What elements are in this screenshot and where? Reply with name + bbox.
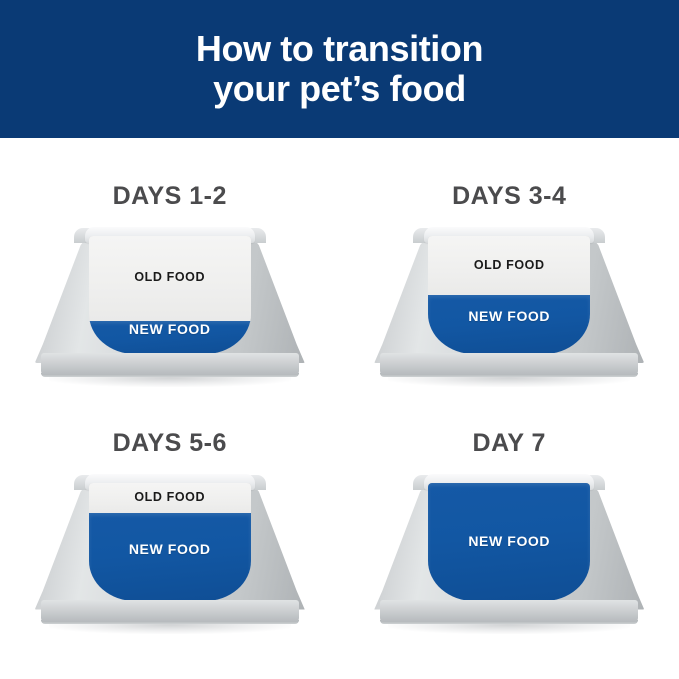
bowl-base <box>380 600 638 622</box>
bowl-basin: OLD FOOD NEW FOOD <box>89 236 251 354</box>
bowl-basin: OLD FOOD NEW FOOD <box>428 236 590 354</box>
food-bowl-days-3-4: OLD FOOD NEW FOOD <box>374 227 644 387</box>
old-food-label: OLD FOOD <box>89 270 251 284</box>
old-food-layer: OLD FOOD <box>89 483 251 514</box>
bowl-base <box>41 353 299 375</box>
step-card-days-3-4: DAYS 3-4 OLD FOOD NEW FOOD <box>340 138 679 409</box>
new-food-label: NEW FOOD <box>89 321 251 337</box>
bowl-basin: OLD FOOD NEW FOOD <box>89 483 251 601</box>
new-food-layer: NEW FOOD <box>89 321 251 354</box>
step-card-days-1-2: DAYS 1-2 OLD FOOD NEW FOOD <box>0 138 340 409</box>
infographic-page: How to transition your pet’s food DAYS 1… <box>0 0 679 679</box>
food-bowl-days-1-2: OLD FOOD NEW FOOD <box>35 227 305 387</box>
old-food-label: OLD FOOD <box>428 258 590 272</box>
page-title: How to transition your pet’s food <box>196 29 483 110</box>
new-food-layer: NEW FOOD <box>89 513 251 600</box>
step-label-day-7: DAY 7 <box>473 429 546 458</box>
food-bowl-days-5-6: OLD FOOD NEW FOOD <box>35 474 305 634</box>
new-food-label: NEW FOOD <box>89 541 251 557</box>
food-bowl-day-7: NEW FOOD <box>374 474 644 634</box>
old-food-layer: OLD FOOD <box>428 236 590 295</box>
new-food-layer: NEW FOOD <box>428 295 590 354</box>
step-label-days-3-4: DAYS 3-4 <box>452 182 566 211</box>
header-banner: How to transition your pet’s food <box>0 0 679 138</box>
new-food-label: NEW FOOD <box>428 533 590 549</box>
bowl-basin: NEW FOOD <box>428 483 590 601</box>
bowl-base <box>380 353 638 375</box>
step-card-day-7: DAY 7 NEW FOOD <box>340 409 679 679</box>
new-food-label: NEW FOOD <box>428 308 590 324</box>
step-label-days-5-6: DAYS 5-6 <box>113 429 227 458</box>
bowl-base <box>41 600 299 622</box>
transition-steps-grid: DAYS 1-2 OLD FOOD NEW FOOD <box>0 138 679 679</box>
step-label-days-1-2: DAYS 1-2 <box>113 182 227 211</box>
new-food-layer: NEW FOOD <box>428 483 590 601</box>
step-card-days-5-6: DAYS 5-6 OLD FOOD NEW FOOD <box>0 409 340 679</box>
old-food-layer: OLD FOOD <box>89 236 251 321</box>
old-food-label: OLD FOOD <box>89 490 251 504</box>
